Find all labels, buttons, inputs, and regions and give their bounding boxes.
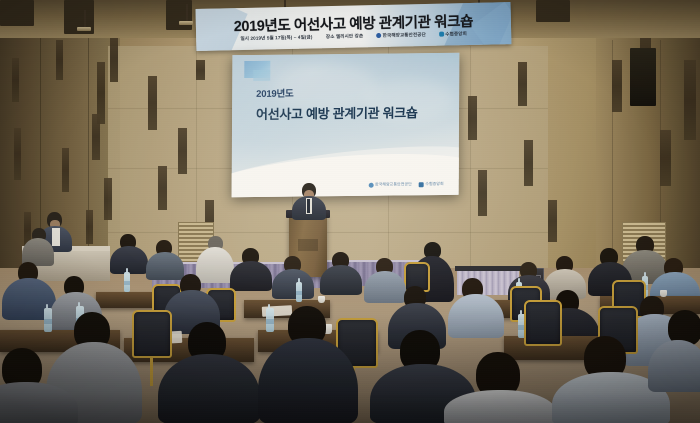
paper-cup bbox=[318, 296, 325, 303]
attendee-torso bbox=[272, 269, 314, 299]
wall-accent-strip bbox=[524, 140, 533, 186]
banner-date: 일시 2019년 5월 17일(목) ~ 4일(금) bbox=[240, 34, 312, 41]
attendee-torso bbox=[146, 252, 184, 280]
presenter-tie bbox=[307, 199, 310, 213]
attendee-torso bbox=[648, 340, 700, 392]
wall-accent-strip bbox=[468, 96, 477, 140]
slide-logo-2-icon bbox=[419, 182, 424, 187]
chair bbox=[524, 300, 562, 346]
presentation-slide: 2019년도 어선사고 예방 관계기관 워크숍 한국해양교통안전공단 수협중앙회 bbox=[232, 53, 460, 197]
wall-accent-strip bbox=[478, 170, 487, 216]
wall-speaker-icon bbox=[630, 48, 656, 106]
wall-accent-strip bbox=[92, 114, 100, 160]
wall-accent-strip bbox=[660, 130, 671, 186]
wall-accent-strip bbox=[104, 178, 112, 220]
banner-org-2: 수협중앙회 bbox=[439, 31, 467, 37]
wall-accent-strip bbox=[158, 166, 167, 210]
attendee-torso bbox=[230, 261, 272, 291]
slide-corner-mark bbox=[244, 61, 270, 78]
wall-accent-strip bbox=[548, 200, 557, 242]
wall-seam bbox=[470, 46, 471, 296]
wall-accent-strip bbox=[148, 76, 157, 130]
attendee-torso bbox=[110, 246, 148, 274]
wall-accent-strip bbox=[12, 58, 19, 102]
wall-accent-strip bbox=[110, 34, 118, 82]
slide-logo-1-icon bbox=[368, 182, 373, 187]
wall-accent-strip bbox=[178, 128, 187, 174]
wall-accent-strip bbox=[14, 128, 21, 180]
org1-logo-icon bbox=[377, 33, 382, 38]
org2-logo-icon bbox=[439, 32, 444, 37]
wall-seam bbox=[108, 232, 548, 233]
pendant-light-rod bbox=[186, 4, 188, 22]
chair-leg bbox=[150, 356, 153, 386]
conference-hall-photo: 2019년도 어선사고 예방 관계기관 워크숍 일시 2019년 5월 17일(… bbox=[0, 0, 700, 423]
wall-accent-strip bbox=[612, 60, 622, 112]
ceiling-recess bbox=[166, 0, 192, 30]
attendee-torso bbox=[320, 265, 362, 295]
attendee-torso bbox=[448, 294, 504, 338]
wall-accent-strip bbox=[56, 40, 63, 80]
pendant-light bbox=[179, 21, 193, 25]
banner-org-1: 한국해양교통안전공단 bbox=[377, 32, 426, 38]
projection-screen: 2019년도 어선사고 예방 관계기관 워크숍 한국해양교통안전공단 수협중앙회 bbox=[232, 53, 460, 197]
official-shirt bbox=[52, 228, 60, 246]
attendee-torso bbox=[364, 271, 406, 303]
wall-accent-strip bbox=[518, 62, 527, 106]
wall-accent-strip bbox=[62, 148, 69, 192]
event-banner: 2019년도 어선사고 예방 관계기관 워크숍 일시 2019년 5월 17일(… bbox=[196, 2, 512, 51]
paper-cup bbox=[660, 290, 667, 297]
wall-accent-strip bbox=[196, 60, 205, 80]
water-bottle bbox=[124, 272, 130, 292]
pendant-light-rod bbox=[84, 10, 86, 28]
slide-logo-2: 수협중앙회 bbox=[419, 181, 444, 187]
banner-place: 장소 엘리시안 강촌 bbox=[326, 33, 363, 39]
slide-logo-row: 한국해양교통안전공단 수협중앙회 bbox=[368, 181, 443, 188]
water-bottle bbox=[296, 282, 302, 302]
wall-accent-strip bbox=[684, 60, 696, 140]
chair bbox=[132, 310, 172, 358]
pendant-light bbox=[77, 27, 91, 31]
ceiling-recess bbox=[536, 0, 570, 22]
water-bottle bbox=[266, 308, 274, 332]
slide-line-2: 어선사고 예방 관계기관 워크숍 bbox=[256, 102, 418, 123]
attendee-torso bbox=[196, 247, 234, 283]
water-bottle bbox=[44, 308, 52, 332]
attendee-torso bbox=[444, 390, 556, 423]
slide-line-1: 2019년도 bbox=[256, 86, 293, 100]
wall-accent-strip bbox=[86, 210, 93, 244]
slide-logo-1: 한국해양교통안전공단 bbox=[368, 181, 411, 187]
podium-plate bbox=[298, 239, 318, 251]
ceiling-recess bbox=[0, 0, 34, 26]
